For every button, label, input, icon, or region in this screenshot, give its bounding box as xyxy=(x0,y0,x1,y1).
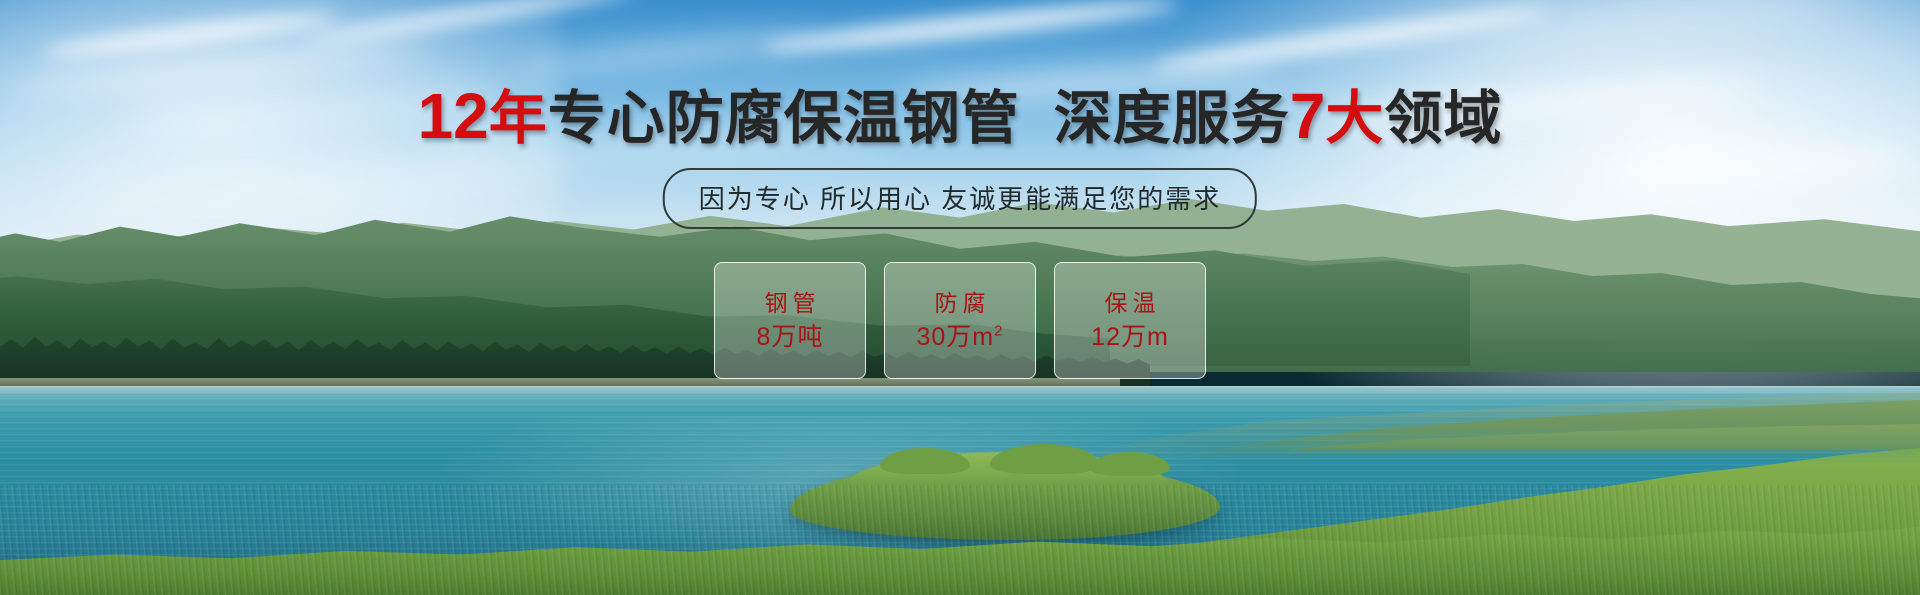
subtitle-pill: 因为专心 所以用心 友诚更能满足您的需求 xyxy=(663,168,1257,229)
hero-banner: 12年专心防腐保温钢管深度服务7大领域 因为专心 所以用心 友诚更能满足您的需求… xyxy=(0,0,1920,595)
stat-card-title: 钢管 xyxy=(760,292,821,315)
stat-card-value-text: 12万m xyxy=(1091,323,1169,351)
subtitle-text: 因为专心 所以用心 友诚更能满足您的需求 xyxy=(699,184,1221,214)
headline-part3: 领域 xyxy=(1384,86,1502,151)
headline: 12年专心防腐保温钢管深度服务7大领域 xyxy=(0,84,1920,148)
stat-card-anticorrosion[interactable]: 防腐 30万m2 xyxy=(884,262,1036,379)
stat-card-steel-pipe[interactable]: 钢管 8万吨 xyxy=(714,262,866,379)
headline-years-number: 12 xyxy=(418,80,489,152)
headline-part2: 深度服务 xyxy=(1054,86,1290,151)
headline-years-unit: 年 xyxy=(489,86,548,151)
stat-card-value-text: 30万m xyxy=(917,323,995,351)
stat-card-title: 防腐 xyxy=(930,292,991,315)
stat-card-value-text: 8万吨 xyxy=(757,323,824,351)
stat-card-insulation[interactable]: 保温 12万m xyxy=(1054,262,1206,379)
banner-content: 12年专心防腐保温钢管深度服务7大领域 因为专心 所以用心 友诚更能满足您的需求… xyxy=(0,0,1920,595)
headline-highlight-unit: 大 xyxy=(1325,86,1384,151)
headline-highlight-number: 7 xyxy=(1290,80,1326,152)
stat-card-value-superscript: 2 xyxy=(994,322,1003,339)
stat-card-value: 12万m xyxy=(1091,325,1169,350)
stat-card-value: 8万吨 xyxy=(757,325,824,350)
stat-cards: 钢管 8万吨 防腐 30万m2 保温 12万m xyxy=(714,262,1206,379)
stat-card-title: 保温 xyxy=(1100,292,1161,315)
headline-part1: 专心防腐保温钢管 xyxy=(548,86,1020,151)
stat-card-value: 30万m2 xyxy=(917,325,1004,350)
